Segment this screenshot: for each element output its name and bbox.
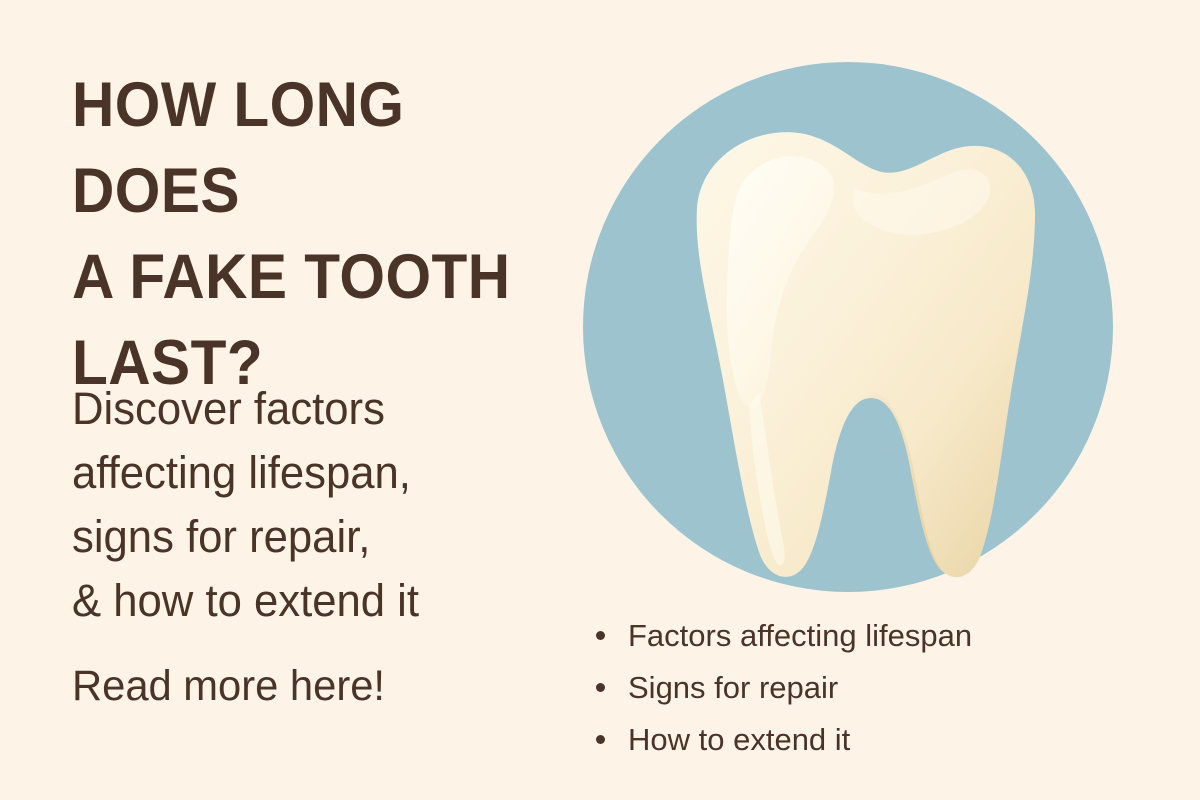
list-item: Signs for repair — [588, 662, 1168, 714]
subheading-text: Discover factors affecting lifespan, sig… — [72, 377, 557, 633]
read-more-link[interactable]: Read more here! — [72, 660, 385, 712]
tooth-illustration — [583, 62, 1113, 592]
poster-canvas: HOW LONG DOES A FAKE TOOTH LAST? Discove… — [0, 0, 1200, 800]
left-text-column: HOW LONG DOES A FAKE TOOTH LAST? Discove… — [72, 62, 592, 406]
list-item-label: Factors affecting lifespan — [628, 618, 972, 653]
list-item-label: Signs for repair — [628, 670, 838, 705]
bullet-dot-icon — [596, 735, 605, 744]
list-item: How to extend it — [588, 714, 1168, 766]
list-item-label: How to extend it — [628, 722, 850, 757]
list-item: Factors affecting lifespan — [588, 610, 1168, 662]
bullet-dot-icon — [596, 683, 605, 692]
feature-bullet-list: Factors affecting lifespan Signs for rep… — [588, 610, 1168, 766]
page-title: HOW LONG DOES A FAKE TOOTH LAST? — [72, 62, 556, 406]
bullet-dot-icon — [596, 631, 605, 640]
